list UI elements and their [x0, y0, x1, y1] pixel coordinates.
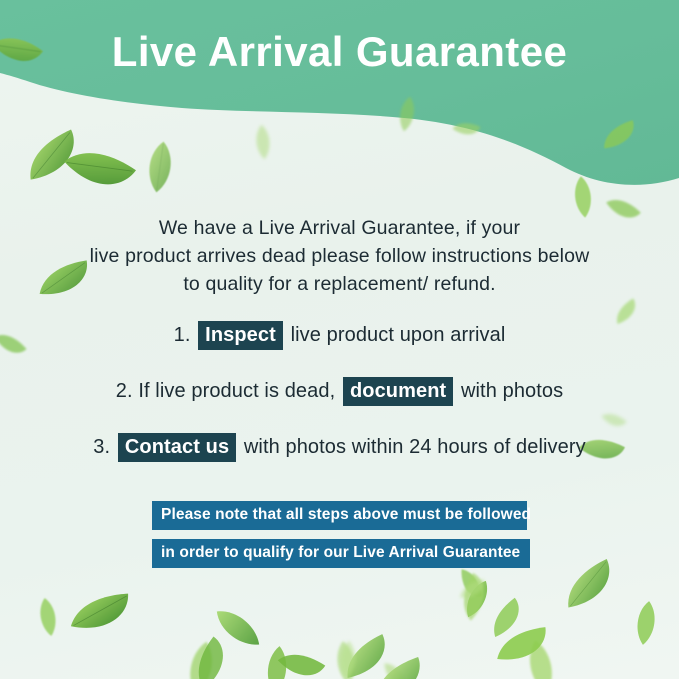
note-line-1: Please note that all steps above must be…: [152, 501, 527, 530]
intro-line-3: to quality for a replacement/ refund.: [60, 270, 619, 298]
leaf-icon: [33, 594, 64, 640]
leaf-icon: [489, 619, 557, 677]
step-text: with photos within 24 hours of delivery: [244, 436, 586, 458]
leaf-icon: [259, 644, 294, 679]
leaf-icon: [449, 115, 482, 145]
step-number: 1.: [174, 324, 191, 346]
step-text: with photos: [461, 380, 563, 402]
leaf-icon: [450, 563, 488, 605]
leaf-icon: [63, 585, 139, 648]
leaf-icon: [332, 626, 403, 679]
leaf-icon: [183, 632, 244, 679]
step-text: live product upon arrival: [291, 324, 506, 346]
leaf-icon: [595, 113, 646, 161]
leaf-icon: [140, 136, 180, 198]
step-number: 3.: [93, 436, 110, 458]
leaf-icon: [518, 635, 563, 679]
note-line-2: in order to qualify for our Live Arrival…: [152, 539, 530, 568]
live-arrival-guarantee-poster: Live Arrival Guarantee We have a Live Ar…: [0, 0, 679, 679]
leaf-icon: [56, 136, 141, 207]
leaf-icon: [250, 123, 275, 161]
intro-line-2: live product arrives dead please follow …: [60, 242, 619, 270]
instruction-steps-list: 1. Inspect live product upon arrival 2. …: [0, 320, 679, 488]
leaf-icon: [270, 640, 329, 679]
leaf-icon: [480, 592, 536, 649]
leaf-icon: [204, 595, 273, 661]
leaf-icon: [335, 639, 361, 679]
list-item: 3. Contact us with photos within 24 hour…: [0, 432, 679, 462]
intro-paragraph: We have a Live Arrival Guarantee, if you…: [60, 214, 619, 298]
step-number: 2.: [116, 380, 133, 402]
footer-note-banner: Please note that all steps above must be…: [152, 501, 532, 568]
leaf-icon: [179, 637, 224, 679]
list-item: 1. Inspect live product upon arrival: [0, 320, 679, 350]
step-text-pre: If live product is dead,: [138, 380, 335, 402]
step-highlight-contact-us: Contact us: [118, 433, 236, 462]
leaf-icon: [451, 569, 501, 626]
leaf-icon: [363, 649, 438, 679]
step-highlight-document: document: [343, 377, 453, 406]
leaf-icon: [393, 93, 421, 134]
leaf-icon: [454, 574, 491, 609]
leaf-icon: [373, 655, 414, 679]
step-highlight-inspect: Inspect: [198, 321, 283, 350]
leaf-icon: [13, 120, 95, 198]
leaf-icon: [329, 638, 363, 679]
leaf-icon: [454, 574, 499, 625]
list-item: 2. If live product is dead, document wit…: [0, 376, 679, 406]
page-title: Live Arrival Guarantee: [0, 28, 679, 75]
leaf-icon: [552, 551, 629, 625]
leaf-icon: [629, 598, 663, 647]
intro-line-1: We have a Live Arrival Guarantee, if you…: [60, 214, 619, 242]
